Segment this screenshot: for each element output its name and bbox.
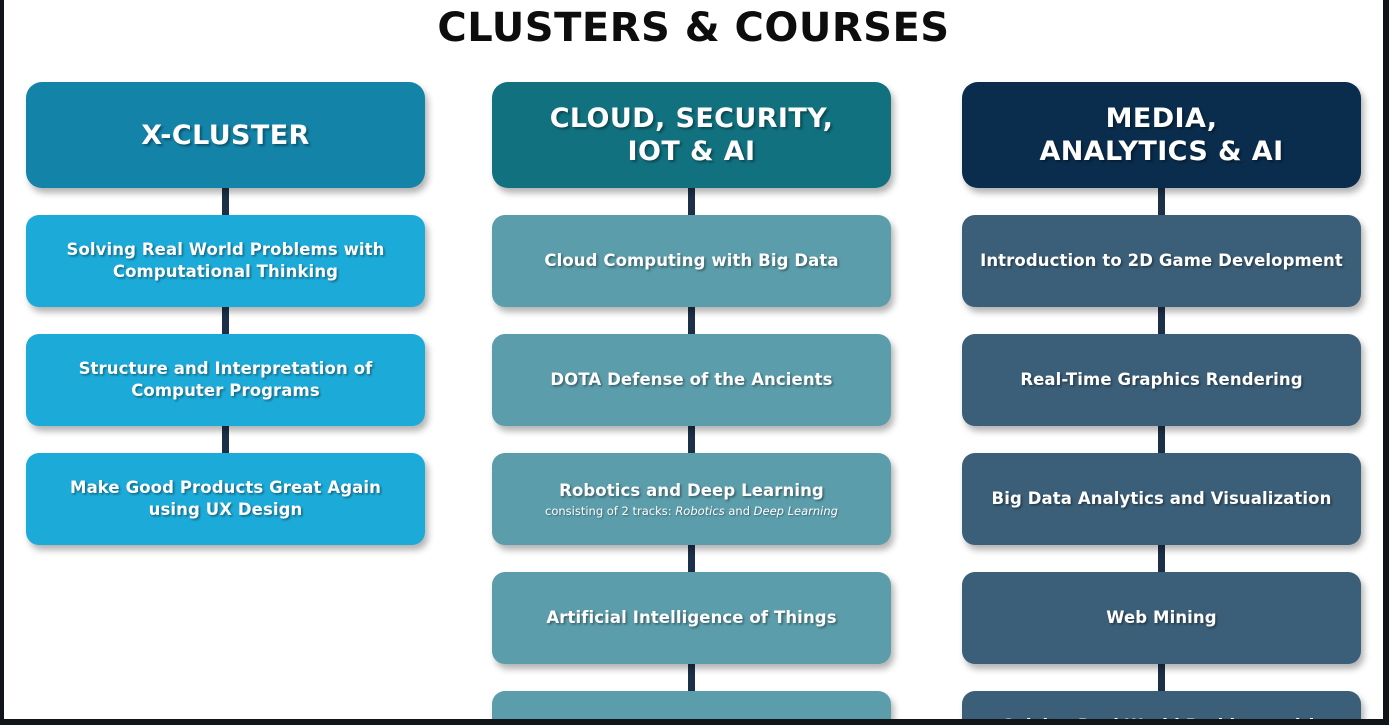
course-card[interactable]: Solving Real World Problems with Simulat…	[962, 691, 1361, 725]
course-card[interactable]: DOTA Defense of the Ancients	[492, 334, 891, 426]
cluster-header-x-cluster[interactable]: X-CLUSTER	[26, 82, 425, 188]
course-card[interactable]: Make Good Products Great Again using UX …	[26, 453, 425, 545]
connector-line	[688, 426, 695, 453]
course-subtitle-joiner: and	[725, 504, 754, 518]
cluster-header-media-analytics-ai[interactable]: MEDIA, ANALYTICS & AI	[962, 82, 1361, 188]
course-label: Solving Real World Problems with Simulat…	[1002, 715, 1320, 725]
course-card[interactable]: Robotics and Deep Learningconsisting of …	[492, 453, 891, 545]
course-subtitle-prefix: consisting of 2 tracks:	[545, 504, 675, 518]
course-label: Robotics and Deep Learning	[559, 480, 824, 502]
course-card[interactable]: Visual Computing	[492, 691, 891, 725]
cluster-column-media-analytics-ai: MEDIA, ANALYTICS & AIIntroduction to 2D …	[962, 82, 1361, 725]
cluster-columns: X-CLUSTERSolving Real World Problems wit…	[4, 82, 1383, 722]
course-label: Make Good Products Great Again using UX …	[70, 477, 381, 521]
course-label: Artificial Intelligence of Things	[546, 607, 836, 629]
course-label: Structure and Interpretation of Computer…	[79, 358, 373, 402]
course-card[interactable]: Artificial Intelligence of Things	[492, 572, 891, 664]
page-title: CLUSTERS & COURSES	[4, 2, 1383, 54]
course-card[interactable]: Solving Real World Problems with Computa…	[26, 215, 425, 307]
connector-line	[222, 426, 229, 453]
cluster-header-label: X-CLUSTER	[141, 119, 310, 152]
course-label: DOTA Defense of the Ancients	[550, 369, 832, 391]
connector-line	[1158, 545, 1165, 572]
course-card[interactable]: Cloud Computing with Big Data	[492, 215, 891, 307]
course-card[interactable]: Web Mining	[962, 572, 1361, 664]
connector-line	[222, 188, 229, 215]
connector-line	[222, 307, 229, 334]
course-label: Web Mining	[1106, 607, 1216, 629]
course-subtitle: consisting of 2 tracks: Robotics and Dee…	[545, 504, 838, 519]
cluster-column-x-cluster: X-CLUSTERSolving Real World Problems wit…	[26, 82, 425, 545]
cluster-header-label: CLOUD, SECURITY, IOT & AI	[550, 102, 834, 168]
connector-line	[1158, 307, 1165, 334]
connector-line	[688, 545, 695, 572]
course-label: Cloud Computing with Big Data	[544, 250, 838, 272]
course-label: Solving Real World Problems with Computa…	[66, 239, 384, 283]
connector-line	[688, 188, 695, 215]
course-card[interactable]: Real-Time Graphics Rendering	[962, 334, 1361, 426]
connector-line	[688, 664, 695, 691]
cluster-column-cloud-security-iot-ai: CLOUD, SECURITY, IOT & AICloud Computing…	[492, 82, 891, 725]
course-subtitle-track-2: Deep Learning	[754, 504, 838, 518]
course-label: Real-Time Graphics Rendering	[1020, 369, 1302, 391]
course-card[interactable]: Big Data Analytics and Visualization	[962, 453, 1361, 545]
course-subtitle-track-1: Robotics	[675, 504, 724, 518]
course-label: Introduction to 2D Game Development	[980, 250, 1343, 272]
course-card[interactable]: Structure and Interpretation of Computer…	[26, 334, 425, 426]
course-label: Big Data Analytics and Visualization	[992, 488, 1332, 510]
connector-line	[688, 307, 695, 334]
cluster-header-label: MEDIA, ANALYTICS & AI	[1039, 102, 1283, 168]
connector-line	[1158, 426, 1165, 453]
cluster-header-cloud-security-iot-ai[interactable]: CLOUD, SECURITY, IOT & AI	[492, 82, 891, 188]
course-card[interactable]: Introduction to 2D Game Development	[962, 215, 1361, 307]
connector-line	[1158, 188, 1165, 215]
clusters-courses-diagram: CLUSTERS & COURSES X-CLUSTERSolving Real…	[0, 0, 1389, 725]
connector-line	[1158, 664, 1165, 691]
